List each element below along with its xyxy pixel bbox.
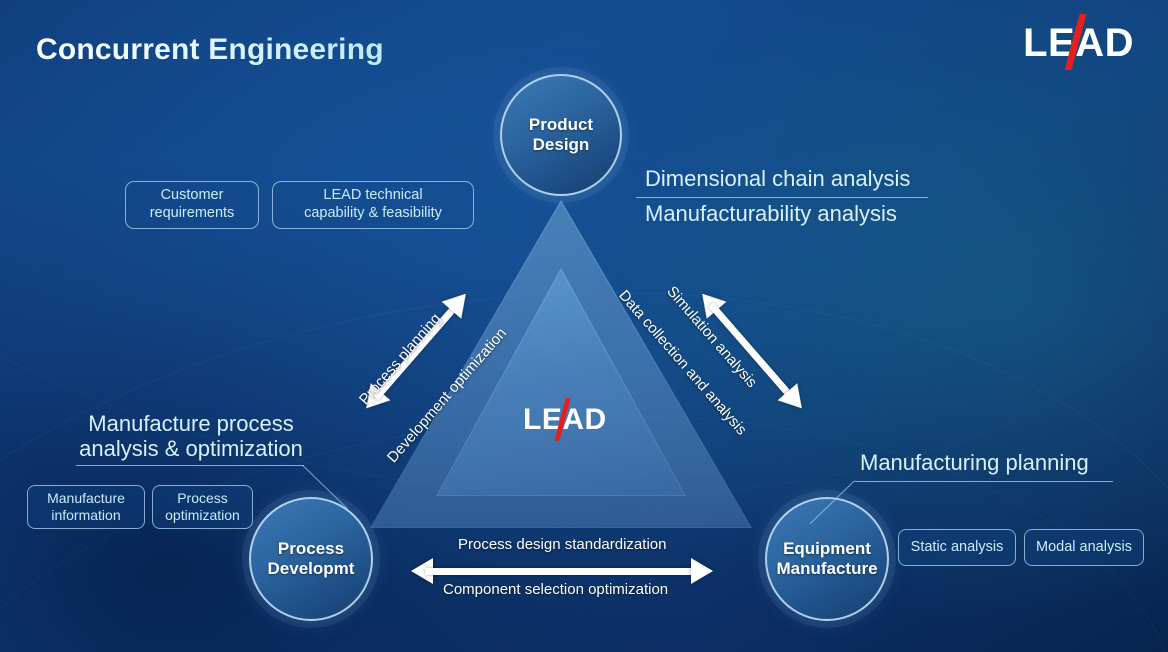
pill-customer-requirements-line2: requirements [150, 205, 235, 221]
lead-logo-header: LEAD [1023, 23, 1134, 63]
pill-customer-requirements[interactable]: Customer requirements [125, 181, 259, 229]
node-product-design-label-line1: Product [529, 115, 593, 134]
arrow-bottom-edge-head-end-icon [691, 558, 713, 584]
callout-left-divider [76, 465, 304, 466]
node-process-development-label-line1: Process [278, 539, 344, 558]
slide-canvas: Concurrent Engineering LEAD LEAD Product… [0, 0, 1168, 652]
callout-manufacturing-planning: Manufacturing planning [860, 450, 1089, 476]
arrow-bottom-edge-lower-label: Component selection optimization [443, 581, 668, 598]
arrow-bottom-edge-upper-label: Process design standardization [458, 536, 666, 553]
pill-manufacture-information-line2: information [51, 507, 120, 523]
callout-right-divider [855, 481, 1113, 482]
node-product-design-label-line2: Design [533, 135, 590, 154]
callout-manufacture-process: Manufacture process analysis & optimizat… [46, 411, 336, 462]
pill-static-analysis[interactable]: Static analysis [898, 529, 1016, 566]
pill-manufacture-information[interactable]: Manufacture information [27, 485, 145, 529]
node-equipment-manufacture-label-line2: Manufacture [776, 559, 877, 578]
pill-process-optimization-line1: Process [177, 490, 228, 506]
callout-manufacture-process-line2: analysis & optimization [79, 436, 303, 461]
node-process-development[interactable]: Process Developmt [249, 497, 373, 621]
pill-lead-technical-line2: capability & feasibility [304, 205, 442, 221]
node-equipment-manufacture[interactable]: Equipment Manufacture [765, 497, 889, 621]
pill-lead-technical-line1: LEAD technical [323, 187, 422, 203]
callout-top-divider [636, 197, 928, 198]
page-title: Concurrent Engineering [36, 33, 384, 67]
node-equipment-manufacture-label-line1: Equipment [783, 539, 871, 558]
callout-manufacturability-analysis: Manufacturability analysis [645, 201, 897, 227]
arrow-bottom-edge-shaft [425, 568, 699, 575]
node-process-development-label-line2: Developmt [268, 559, 355, 578]
pill-lead-technical[interactable]: LEAD technical capability & feasibility [272, 181, 474, 229]
callout-manufacture-process-line1: Manufacture process [88, 411, 293, 436]
pill-manufacture-information-line1: Manufacture [47, 490, 125, 506]
arrow-left-edge-upper-label: Process planning [356, 310, 444, 408]
pill-process-optimization-line2: optimization [165, 507, 240, 523]
pill-customer-requirements-line1: Customer [161, 187, 224, 203]
pill-modal-analysis[interactable]: Modal analysis [1024, 529, 1144, 566]
pill-process-optimization[interactable]: Process optimization [152, 485, 253, 529]
callout-dimensional-chain-analysis: Dimensional chain analysis [645, 166, 910, 192]
node-product-design[interactable]: Product Design [500, 74, 622, 196]
lead-logo-center: LEAD [523, 405, 607, 435]
